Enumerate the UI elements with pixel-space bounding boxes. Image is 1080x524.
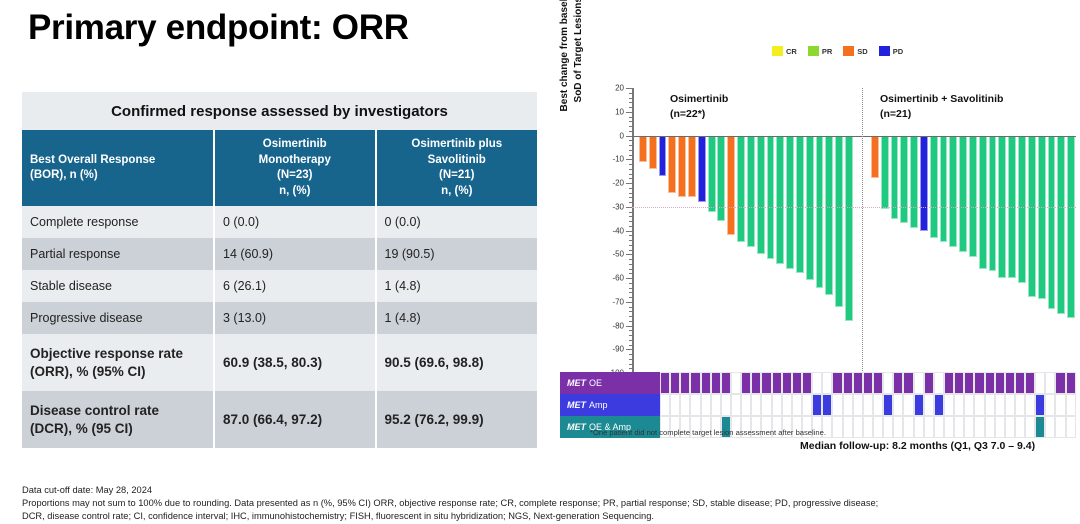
biomarker-cell (863, 372, 873, 394)
cell-summary-monotherapy: 87.0 (66.4, 97.2) (214, 391, 376, 448)
biomarker-cell (974, 416, 984, 438)
waterfall-bar (920, 136, 928, 231)
legend-swatch-icon (772, 46, 783, 56)
waterfall-bar (1038, 136, 1046, 300)
table-caption: Confirmed response assessed by investiga… (22, 92, 537, 130)
biomarker-cell (924, 372, 934, 394)
column-header-monotherapy: Osimertinib Monotherapy (N=23) n, (%) (214, 130, 376, 206)
biomarker-cell (1025, 394, 1035, 416)
biomarker-cell (1066, 394, 1076, 416)
biomarker-cell (660, 372, 670, 394)
biomarker-cell (741, 372, 751, 394)
waterfall-bar (776, 136, 784, 264)
biomarker-cell (1035, 416, 1045, 438)
y-tick-label: -20 (612, 179, 624, 188)
y-axis-label: Best change from baseline in SoD of Targ… (558, 0, 585, 137)
biomarker-cell (1045, 394, 1055, 416)
table-row-summary: Disease control rate(DCR), % (95 CI)87.0… (22, 391, 537, 448)
biomarker-cell (964, 372, 974, 394)
chart-legend: CRPRSDPD (772, 46, 903, 56)
biomarker-cell (690, 394, 700, 416)
biomarker-cell (893, 416, 903, 438)
chart-footnote-asterisk: *One patient did not complete target les… (590, 428, 826, 437)
cell-response-label: Stable disease (22, 270, 214, 302)
biomarker-cell (893, 372, 903, 394)
biomarker-cell (974, 394, 984, 416)
cell-combination-value: 1 (4.8) (376, 270, 538, 302)
biomarker-cell (903, 416, 913, 438)
biomarker-cell (903, 372, 913, 394)
biomarker-cell (883, 372, 893, 394)
cell-response-label: Progressive disease (22, 302, 214, 334)
biomarker-cell (903, 394, 913, 416)
biomarker-cell (985, 394, 995, 416)
legend-item-sd: SD (843, 46, 867, 56)
y-tick-label: 0 (620, 131, 624, 140)
waterfall-bar (708, 136, 716, 212)
waterfall-bar (881, 136, 889, 210)
table-row: Progressive disease3 (13.0)1 (4.8) (22, 302, 537, 334)
biomarker-cell (985, 416, 995, 438)
biomarker-cell (1025, 372, 1035, 394)
waterfall-bar (659, 136, 667, 176)
biomarker-cell (761, 372, 771, 394)
biomarker-cell (822, 372, 832, 394)
waterfall-bar (825, 136, 833, 295)
median-followup-note: Median follow-up: 8.2 months (Q1, Q3 7.0… (800, 440, 1035, 452)
waterfall-bar (786, 136, 794, 269)
waterfall-bar (1048, 136, 1056, 309)
waterfall-bar (649, 136, 657, 169)
biomarker-cell (660, 394, 670, 416)
ylabel-line1: Best change from baseline in (558, 0, 572, 137)
cell-monotherapy-value: 3 (13.0) (214, 302, 376, 334)
biomarker-cell (995, 416, 1005, 438)
waterfall-bar (979, 136, 987, 269)
biomarker-cell (680, 394, 690, 416)
waterfall-bar (900, 136, 908, 224)
cell-monotherapy-value: 0 (0.0) (214, 206, 376, 238)
cell-monotherapy-value: 6 (26.1) (214, 270, 376, 302)
biomarker-cell (1005, 372, 1015, 394)
column-header-bor: Best Overall Response (BOR), n (%) (22, 130, 214, 206)
cell-combination-value: 1 (4.8) (376, 302, 538, 334)
biomarker-cell (934, 372, 944, 394)
biomarker-cell (914, 416, 924, 438)
waterfall-bar (910, 136, 918, 229)
biomarker-cell (832, 416, 842, 438)
biomarker-cell (772, 394, 782, 416)
biomarker-cell (1055, 394, 1065, 416)
biomarker-cell (954, 372, 964, 394)
biomarker-cell (873, 394, 883, 416)
column-header-combination: Osimertinib plus Savolitinib (N=21) n, (… (376, 130, 538, 206)
legend-item-cr: CR (772, 46, 797, 56)
bars-layer (632, 88, 1076, 373)
zero-baseline (632, 136, 1076, 138)
biomarker-type-label: Amp (589, 400, 608, 410)
waterfall-bar (816, 136, 824, 288)
biomarker-cell (670, 372, 680, 394)
legend-label: PD (893, 47, 903, 56)
biomarker-cell (843, 372, 853, 394)
mono-line1: Osimertinib (223, 137, 367, 153)
biomarker-cell (802, 394, 812, 416)
mono-line4: n, (%) (223, 184, 367, 200)
table-header-row: Best Overall Response (BOR), n (%) Osime… (22, 130, 537, 206)
biomarker-cell (843, 394, 853, 416)
biomarker-cell (974, 372, 984, 394)
waterfall-bar (845, 136, 853, 321)
biomarker-cell (924, 416, 934, 438)
biomarker-cell (751, 372, 761, 394)
y-tick-label: -40 (612, 226, 624, 235)
waterfall-bar (737, 136, 745, 243)
waterfall-bar (1067, 136, 1075, 319)
legend-swatch-icon (808, 46, 819, 56)
summary-label-line1: Objective response rate (30, 345, 205, 363)
footnote-line3: DCR, disease control rate; CI, confidenc… (22, 510, 1068, 523)
biomarker-cell (832, 394, 842, 416)
biomarker-cell (792, 394, 802, 416)
biomarker-gene-name: MET (567, 400, 586, 410)
bor-line1: Best Overall Response (30, 153, 205, 169)
biomarker-cell (751, 394, 761, 416)
footnote-line1: Data cut-off date: May 28, 2024 (22, 484, 1068, 497)
cell-summary-combination: 95.2 (76.2, 99.9) (376, 391, 538, 448)
biomarker-cell (863, 416, 873, 438)
combo-line3: (N=21) (385, 168, 530, 184)
waterfall-bar (678, 136, 686, 198)
biomarker-cell (873, 372, 883, 394)
waterfall-bar (806, 136, 814, 281)
biomarker-cell (964, 416, 974, 438)
slide: Primary endpoint: ORR Confirmed response… (0, 0, 1080, 524)
plot-area: 20100-10-20-30-40-50-60-70-80-90-100 (632, 88, 1076, 373)
page-title: Primary endpoint: ORR (28, 8, 409, 48)
biomarker-cell (701, 394, 711, 416)
cell-summary-label: Disease control rate(DCR), % (95 CI) (22, 391, 214, 448)
waterfall-bar (747, 136, 755, 248)
biomarker-gene-name: MET (567, 378, 586, 388)
biomarker-cell (772, 372, 782, 394)
biomarker-cell (1055, 416, 1065, 438)
biomarker-cell (934, 394, 944, 416)
cell-summary-monotherapy: 60.9 (38.5, 80.3) (214, 334, 376, 391)
summary-label-line1: Disease control rate (30, 402, 205, 420)
biomarker-row-label: MET Amp (560, 394, 660, 416)
biomarker-cells (660, 394, 1076, 416)
biomarker-cell (1005, 394, 1015, 416)
mono-line2: Monotherapy (223, 153, 367, 169)
legend-item-pd: PD (879, 46, 903, 56)
bor-line2: (BOR), n (%) (30, 168, 205, 184)
biomarker-cell (944, 372, 954, 394)
waterfall-bar (757, 136, 765, 255)
biomarker-cell (1005, 416, 1015, 438)
biomarker-cell (802, 372, 812, 394)
biomarker-cell (853, 372, 863, 394)
waterfall-bar (835, 136, 843, 307)
waterfall-bar (930, 136, 938, 238)
biomarker-cell (843, 416, 853, 438)
biomarker-cell (812, 372, 822, 394)
biomarker-cell (1066, 372, 1076, 394)
legend-swatch-icon (879, 46, 890, 56)
table-row-summary: Objective response rate(ORR), % (95% CI)… (22, 334, 537, 391)
biomarker-cell (711, 394, 721, 416)
y-tick-label: -50 (612, 250, 624, 259)
waterfall-bar (639, 136, 647, 162)
biomarker-cell (1035, 394, 1045, 416)
y-tick-label: -60 (612, 274, 624, 283)
biomarker-cell (701, 372, 711, 394)
biomarker-cell (822, 394, 832, 416)
y-tick-label: 20 (615, 84, 624, 93)
waterfall-bar (767, 136, 775, 260)
waterfall-bar (727, 136, 735, 236)
y-tick-label: -10 (612, 155, 624, 164)
cell-combination-value: 0 (0.0) (376, 206, 538, 238)
biomarker-cell (873, 416, 883, 438)
biomarker-cell (985, 372, 995, 394)
biomarker-cell (761, 394, 771, 416)
biomarker-cell (1035, 372, 1045, 394)
cell-combination-value: 19 (90.5) (376, 238, 538, 270)
slide-footnotes: Data cut-off date: May 28, 2024 Proporti… (22, 484, 1068, 522)
waterfall-bar (871, 136, 879, 179)
biomarker-cell (914, 372, 924, 394)
legend-label: SD (857, 47, 867, 56)
biomarker-cell (1025, 416, 1035, 438)
waterfall-bar (940, 136, 948, 243)
waterfall-bar (668, 136, 676, 193)
waterfall-chart: CRPRSDPD Osimertinib (n=22*) Osimertinib… (560, 42, 1076, 472)
y-tick-label: -30 (612, 202, 624, 211)
biomarker-cell (1015, 416, 1025, 438)
waterfall-bar (1057, 136, 1065, 314)
biomarker-cell (995, 394, 1005, 416)
table-row: Partial response14 (60.9)19 (90.5) (22, 238, 537, 270)
biomarker-cell (883, 394, 893, 416)
biomarker-cell (914, 394, 924, 416)
table-row: Stable disease6 (26.1)1 (4.8) (22, 270, 537, 302)
summary-label-line2: (DCR), % (95 CI) (30, 420, 205, 438)
biomarker-cell (721, 372, 731, 394)
response-table-container: Confirmed response assessed by investiga… (22, 92, 537, 448)
biomarker-row: MET Amp (560, 394, 1076, 416)
biomarker-cell (1045, 372, 1055, 394)
biomarker-cell (1015, 394, 1025, 416)
cell-response-label: Complete response (22, 206, 214, 238)
legend-item-pr: PR (808, 46, 832, 56)
y-tick-label: 10 (615, 107, 624, 116)
biomarker-cell (1045, 416, 1055, 438)
waterfall-bar (949, 136, 957, 248)
legend-label: CR (786, 47, 797, 56)
biomarker-cell (853, 416, 863, 438)
biomarker-cell (690, 372, 700, 394)
panel-divider (862, 88, 863, 373)
biomarker-cell (782, 372, 792, 394)
biomarker-cell (721, 394, 731, 416)
biomarker-cell (954, 416, 964, 438)
biomarker-cell (670, 394, 680, 416)
waterfall-bar (698, 136, 706, 203)
biomarker-cell (741, 394, 751, 416)
biomarker-cell (893, 394, 903, 416)
biomarker-cell (812, 394, 822, 416)
biomarker-cell (731, 372, 741, 394)
waterfall-bar (688, 136, 696, 198)
biomarker-row-label: MET OE (560, 372, 660, 394)
combo-line1: Osimertinib plus (385, 137, 530, 153)
y-tick-label: -90 (612, 345, 624, 354)
waterfall-bar (959, 136, 967, 252)
biomarker-cell (863, 394, 873, 416)
mono-line3: (N=23) (223, 168, 367, 184)
waterfall-bar (1018, 136, 1026, 283)
table-body: Complete response0 (0.0)0 (0.0)Partial r… (22, 206, 537, 448)
y-tick-label: -80 (612, 321, 624, 330)
biomarker-cell (832, 372, 842, 394)
legend-swatch-icon (843, 46, 854, 56)
cell-summary-combination: 90.5 (69.6, 98.8) (376, 334, 538, 391)
biomarker-cell (934, 416, 944, 438)
biomarker-cell (995, 372, 1005, 394)
waterfall-bar (796, 136, 804, 274)
reference-line-30 (632, 207, 1076, 208)
biomarker-row: MET OE (560, 372, 1076, 394)
biomarker-cell (944, 416, 954, 438)
biomarker-cell (883, 416, 893, 438)
waterfall-bar (989, 136, 997, 271)
biomarker-cell (731, 394, 741, 416)
biomarker-cell (944, 394, 954, 416)
ylabel-line2: SoD of Target Lesions(%) (572, 0, 586, 137)
cell-summary-label: Objective response rate(ORR), % (95% CI) (22, 334, 214, 391)
cell-monotherapy-value: 14 (60.9) (214, 238, 376, 270)
combo-line2: Savolitinib (385, 153, 530, 169)
biomarker-cells (660, 372, 1076, 394)
footnote-line2: Proportions may not sum to 100% due to r… (22, 497, 1068, 510)
response-table: Best Overall Response (BOR), n (%) Osime… (22, 130, 537, 448)
biomarker-cell (792, 372, 802, 394)
biomarker-cell (711, 372, 721, 394)
biomarker-gene-name: MET (567, 422, 586, 432)
biomarker-cell (924, 394, 934, 416)
combo-line4: n, (%) (385, 184, 530, 200)
biomarker-cell (1055, 372, 1065, 394)
biomarker-cell (964, 394, 974, 416)
biomarker-cell (782, 394, 792, 416)
waterfall-bar (969, 136, 977, 257)
legend-label: PR (822, 47, 832, 56)
biomarker-cell (1015, 372, 1025, 394)
waterfall-bar (717, 136, 725, 222)
waterfall-bar (1028, 136, 1036, 298)
biomarker-cell (853, 394, 863, 416)
table-row: Complete response0 (0.0)0 (0.0) (22, 206, 537, 238)
biomarker-cell (680, 372, 690, 394)
table-head: Best Overall Response (BOR), n (%) Osime… (22, 130, 537, 206)
y-tick-label: -70 (612, 297, 624, 306)
biomarker-type-label: OE (589, 378, 602, 388)
cell-response-label: Partial response (22, 238, 214, 270)
biomarker-cell (1066, 416, 1076, 438)
biomarker-cell (954, 394, 964, 416)
summary-label-line2: (ORR), % (95% CI) (30, 363, 205, 381)
